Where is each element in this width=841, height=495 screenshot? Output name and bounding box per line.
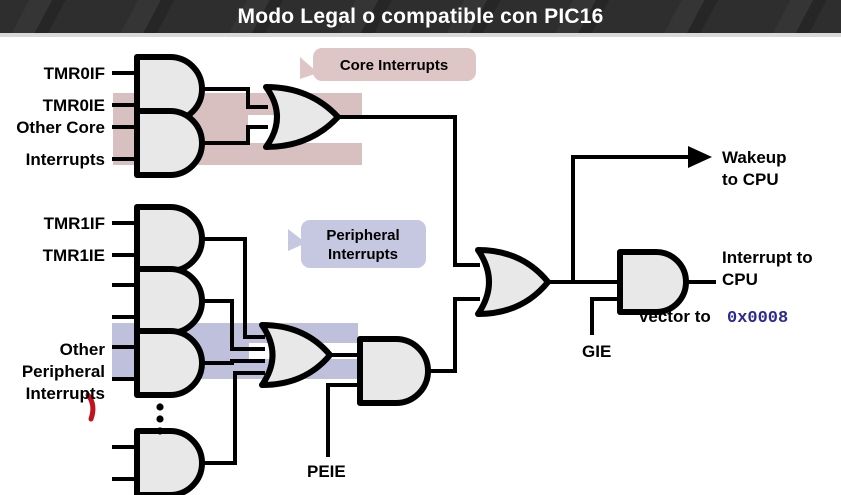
peripheral-and-gate-n <box>137 431 202 495</box>
output-wakeup-line2: to CPU <box>722 170 779 189</box>
vector-address-value: 0x0008 <box>727 309 788 328</box>
logic-diagram-canvas: TMR0IF TMR0IE Other Core Interrupts Core… <box>0 37 841 495</box>
gie-and-gate <box>620 252 686 312</box>
peie-label: PEIE <box>307 462 346 481</box>
output-wakeup-line1: Wakeup <box>722 148 787 167</box>
peripheral-interrupts-callout: Peripheral Interrupts <box>288 220 426 268</box>
core-callout-label: Core Interrupts <box>340 57 448 74</box>
tmr1-and-gate <box>137 207 202 271</box>
peie-and-gate <box>360 339 428 403</box>
peripheral-and-gate-2 <box>137 269 202 333</box>
main-or-gate <box>478 250 548 314</box>
input-label-tmr1if: TMR1IF <box>44 214 105 233</box>
vector-label-prefix: Vector to <box>638 307 711 326</box>
input-label-tmr1ie: TMR1IE <box>43 246 105 265</box>
wakeup-arrowhead <box>688 146 712 168</box>
input-label-peripheral: Peripheral <box>22 362 105 381</box>
page-title: Modo Legal o compatible con PIC16 <box>0 0 841 33</box>
title-bar: Modo Legal o compatible con PIC16 <box>0 0 841 33</box>
peripheral-callout-line1: Peripheral <box>326 227 399 244</box>
peripheral-callout-line2: Interrupts <box>328 246 398 263</box>
peripheral-ellipsis <box>156 403 163 434</box>
input-label-core-interrupts: Interrupts <box>26 150 105 169</box>
output-interrupt-line1: Interrupt to <box>722 248 813 267</box>
input-label-peripheral-interrupts: Interrupts <box>26 384 105 403</box>
input-label-tmr0if: TMR0IF <box>44 64 105 83</box>
input-label-tmr0ie: TMR0IE <box>43 96 105 115</box>
core-interrupts-callout: Core Interrupts <box>300 48 476 81</box>
peripheral-and-gate-3 <box>137 331 202 395</box>
input-label-other-core: Other Core <box>16 118 105 137</box>
diagram-page: Modo Legal o compatible con PIC16 <box>0 0 841 495</box>
gie-label: GIE <box>582 342 611 361</box>
input-label-other: Other <box>60 340 106 359</box>
other-core-and-gate <box>137 111 202 175</box>
output-interrupt-line2: CPU <box>722 270 758 289</box>
